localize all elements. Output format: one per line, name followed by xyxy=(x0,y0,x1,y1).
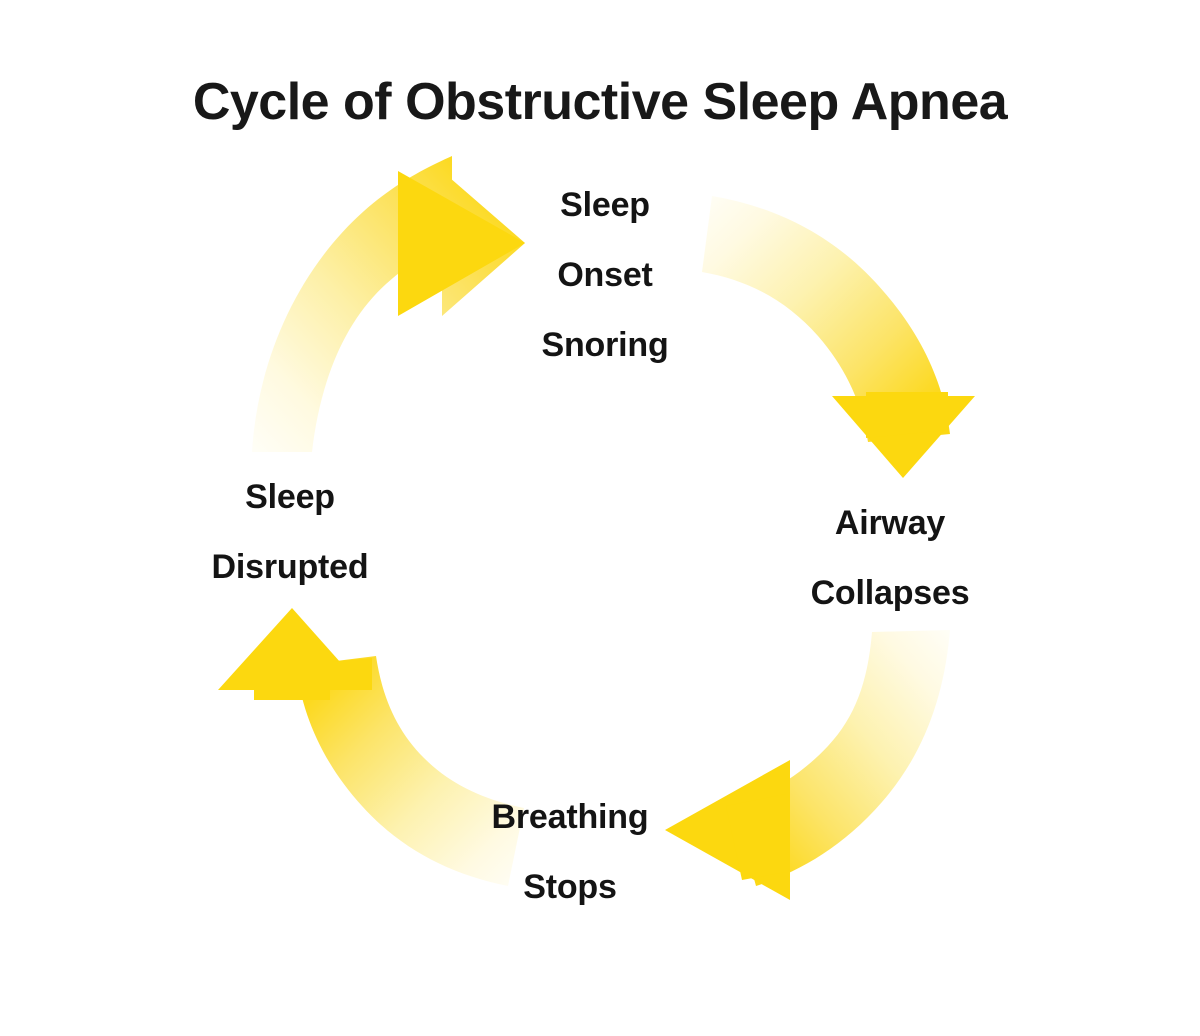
node-label-sleep-disrupted: Sleep Disrupted xyxy=(140,462,440,602)
cycle-stage: Sleep Onset Snoring Airway Collapses Bre… xyxy=(0,0,1200,1036)
cycle-diagram: Cycle of Obstructive Sleep Apnea xyxy=(0,0,1200,1036)
node-label-sleep-onset-snoring: Sleep Onset Snoring xyxy=(455,170,755,380)
node-label-line: Onset xyxy=(455,240,755,310)
node-label-line: Breathing xyxy=(420,782,720,852)
node-label-line: Stops xyxy=(420,852,720,922)
node-label-airway-collapses: Airway Collapses xyxy=(740,488,1040,628)
node-label-line: Snoring xyxy=(455,310,755,380)
node-label-line: Sleep xyxy=(140,462,440,532)
node-label-line: Collapses xyxy=(740,558,1040,628)
node-label-breathing-stops: Breathing Stops xyxy=(420,782,720,922)
node-label-line: Sleep xyxy=(455,170,755,240)
node-label-line: Airway xyxy=(740,488,1040,558)
node-label-line: Disrupted xyxy=(140,532,440,602)
